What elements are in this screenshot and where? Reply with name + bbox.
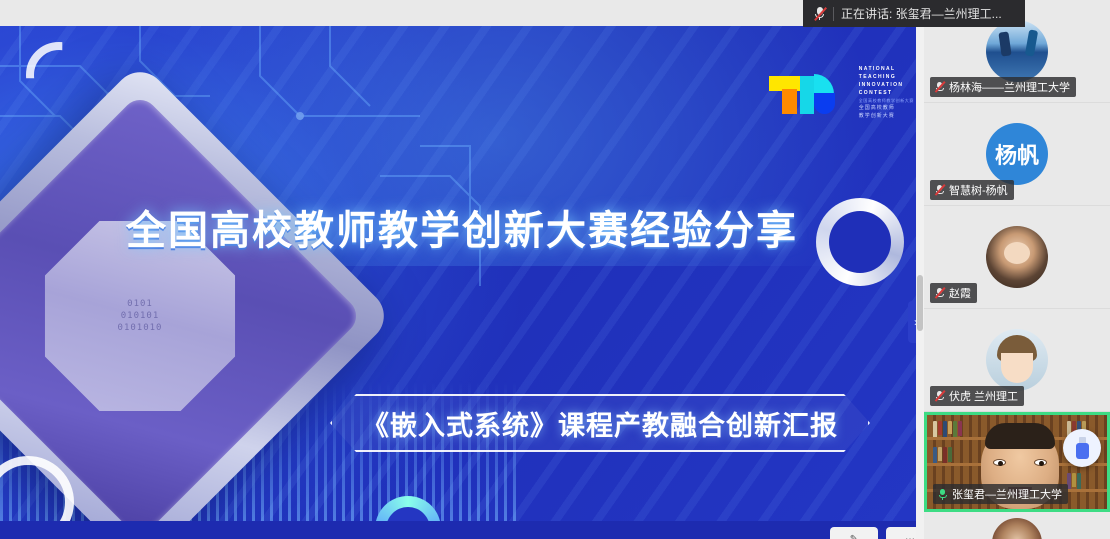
participant-name: 赵霞 <box>949 285 971 301</box>
status-badge: 张玺君—兰州理工大学 <box>933 484 1068 504</box>
participant-name: 张玺君—兰州理工大学 <box>952 486 1062 502</box>
avatar <box>986 226 1048 288</box>
presentation-slide: 0101 010101 0101010 NATIONAL TEACHIN <box>0 26 924 521</box>
status-badge: 智慧树-杨帆 <box>930 180 1014 200</box>
status-badge: 赵霞 <box>930 283 977 303</box>
chip-die-line-1: 0101 <box>127 299 153 309</box>
logo-cn-line-1: 全国高校教师 <box>859 105 914 112</box>
window-top-strip <box>0 0 924 26</box>
shared-screen-stage[interactable]: 0101 010101 0101010 NATIONAL TEACHIN <box>0 26 924 539</box>
tic-logo-mark <box>769 72 851 114</box>
participant-tile[interactable] <box>924 512 1110 539</box>
status-badge: 伏虎 兰州理工 <box>930 386 1024 406</box>
participant-name: 智慧树-杨帆 <box>949 182 1008 198</box>
participant-tile[interactable]: 杨帆 智慧树-杨帆 <box>924 103 1110 206</box>
mic-muted-icon <box>813 6 826 21</box>
usb-drive-icon <box>1063 429 1101 467</box>
tic-logo-text: NATIONAL TEACHING INNOVATION CONTEST 全国高… <box>859 66 914 120</box>
chip-die-line-2: 010101 <box>121 311 160 321</box>
participant-panel-scrollbar[interactable] <box>916 27 924 539</box>
active-speaker-tile[interactable]: 张玺君—兰州理工大学 <box>924 412 1110 512</box>
participant-tile[interactable]: 伏虎 兰州理工 <box>924 309 1110 412</box>
participant-panel[interactable]: 杨林海——兰州理工大学 杨帆 智慧树-杨帆 赵霞 <box>924 0 1110 539</box>
logo-en-line-3: INNOVATION <box>859 82 914 89</box>
slide-subtitle-banner: 《嵌入式系统》课程产教融合创新汇报 <box>330 394 870 452</box>
avatar <box>986 329 1048 391</box>
mic-muted-icon <box>934 390 945 402</box>
logo-en-line-2: TEACHING <box>859 74 914 81</box>
chip-die-line-3: 0101010 <box>118 323 163 333</box>
status-badge: 杨林海——兰州理工大学 <box>930 77 1076 97</box>
mic-muted-icon <box>934 184 945 196</box>
participant-name: 杨林海——兰州理工大学 <box>949 79 1070 95</box>
mic-muted-icon <box>934 81 945 93</box>
participant-name: 伏虎 兰州理工 <box>949 388 1018 404</box>
participant-tile[interactable]: 赵霞 <box>924 206 1110 309</box>
speaking-status-banner: 正在讲话: 张玺君—兰州理工... <box>803 0 1025 27</box>
annotate-button[interactable]: ✎ <box>830 527 878 539</box>
meeting-window: 0101 010101 0101010 NATIONAL TEACHIN <box>0 0 1110 539</box>
tic-contest-logo: NATIONAL TEACHING INNOVATION CONTEST 全国高… <box>769 66 914 120</box>
logo-en-line-4: CONTEST <box>859 90 914 97</box>
logo-en-line-1: NATIONAL <box>859 66 914 73</box>
avatar <box>986 20 1048 82</box>
slide-subtitle: 《嵌入式系统》课程产教融合创新汇报 <box>362 404 838 443</box>
slide-title: 全国高校教师教学创新大赛经验分享 <box>0 198 924 256</box>
mic-unmuted-icon <box>937 488 948 500</box>
logo-cn-line-2: 教学创新大赛 <box>859 113 914 120</box>
banner-divider <box>833 7 834 21</box>
avatar: 杨帆 <box>986 123 1048 185</box>
logo-cn-sub: 全国高校教师教学创新大赛 <box>859 98 914 104</box>
stage-bottom-bar: ✎ ⋯ <box>0 521 924 539</box>
avatar <box>992 518 1042 539</box>
mic-muted-icon <box>934 287 945 299</box>
scrollbar-thumb[interactable] <box>917 275 923 331</box>
speaking-status-text: 正在讲话: 张玺君—兰州理工... <box>841 5 1002 22</box>
